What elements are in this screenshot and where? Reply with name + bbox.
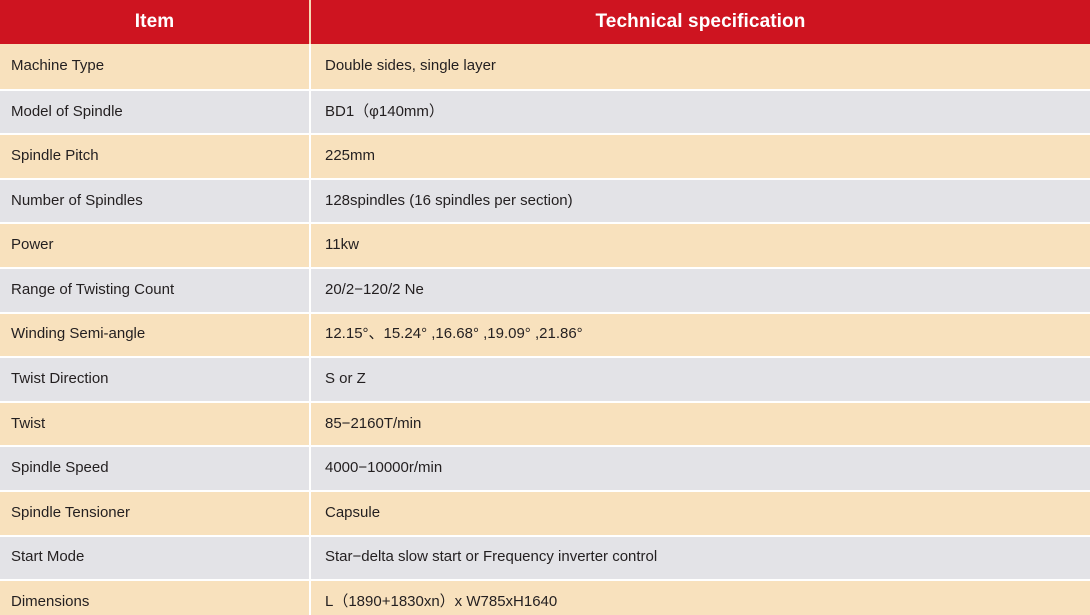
cell-specification: 85−2160T/min: [311, 401, 1090, 446]
cell-specification: BD1（φ140mm）: [311, 89, 1090, 134]
cell-specification: 128spindles (16 spindles per section): [311, 178, 1090, 223]
cell-item: Power: [0, 222, 311, 267]
cell-item: Spindle Tensioner: [0, 490, 311, 535]
cell-specification: 11kw: [311, 222, 1090, 267]
cell-item: Twist: [0, 401, 311, 446]
cell-specification: 225mm: [311, 133, 1090, 178]
cell-specification: Double sides, single layer: [311, 44, 1090, 89]
cell-specification: S or Z: [311, 356, 1090, 401]
table-row: Start ModeStar−delta slow start or Frequ…: [0, 535, 1090, 580]
table-row: Spindle TensionerCapsule: [0, 490, 1090, 535]
table-header: Item Technical specification: [0, 0, 1090, 44]
table-body: Machine TypeDouble sides, single layerMo…: [0, 44, 1090, 615]
table-row: Number of Spindles128spindles (16 spindl…: [0, 178, 1090, 223]
cell-item: Machine Type: [0, 44, 311, 89]
cell-item: Range of Twisting Count: [0, 267, 311, 312]
table-row: DimensionsL（1890+1830xn）x W785xH1640: [0, 579, 1090, 615]
cell-specification: L（1890+1830xn）x W785xH1640: [311, 579, 1090, 615]
cell-specification: 4000−10000r/min: [311, 445, 1090, 490]
table-row: Model of SpindleBD1（φ140mm）: [0, 89, 1090, 134]
cell-specification: 20/2−120/2 Ne: [311, 267, 1090, 312]
column-header-item: Item: [0, 0, 311, 44]
cell-item: Spindle Speed: [0, 445, 311, 490]
table-row: Power11kw: [0, 222, 1090, 267]
table-row: Twist DirectionS or Z: [0, 356, 1090, 401]
table-row: Machine TypeDouble sides, single layer: [0, 44, 1090, 89]
table-row: Spindle Pitch225mm: [0, 133, 1090, 178]
cell-item: Spindle Pitch: [0, 133, 311, 178]
header-row: Item Technical specification: [0, 0, 1090, 44]
cell-specification: 12.15°、15.24° ,16.68° ,19.09° ,21.86°: [311, 312, 1090, 357]
cell-specification: Capsule: [311, 490, 1090, 535]
cell-item: Model of Spindle: [0, 89, 311, 134]
cell-item: Twist Direction: [0, 356, 311, 401]
cell-specification: Star−delta slow start or Frequency inver…: [311, 535, 1090, 580]
column-header-technical-specification: Technical specification: [311, 0, 1090, 44]
table-row: Twist85−2160T/min: [0, 401, 1090, 446]
table-row: Spindle Speed4000−10000r/min: [0, 445, 1090, 490]
cell-item: Start Mode: [0, 535, 311, 580]
table-row: Range of Twisting Count20/2−120/2 Ne: [0, 267, 1090, 312]
table-row: Winding Semi-angle12.15°、15.24° ,16.68° …: [0, 312, 1090, 357]
cell-item: Number of Spindles: [0, 178, 311, 223]
cell-item: Dimensions: [0, 579, 311, 615]
cell-item: Winding Semi-angle: [0, 312, 311, 357]
technical-specification-table: Item Technical specification Machine Typ…: [0, 0, 1090, 615]
